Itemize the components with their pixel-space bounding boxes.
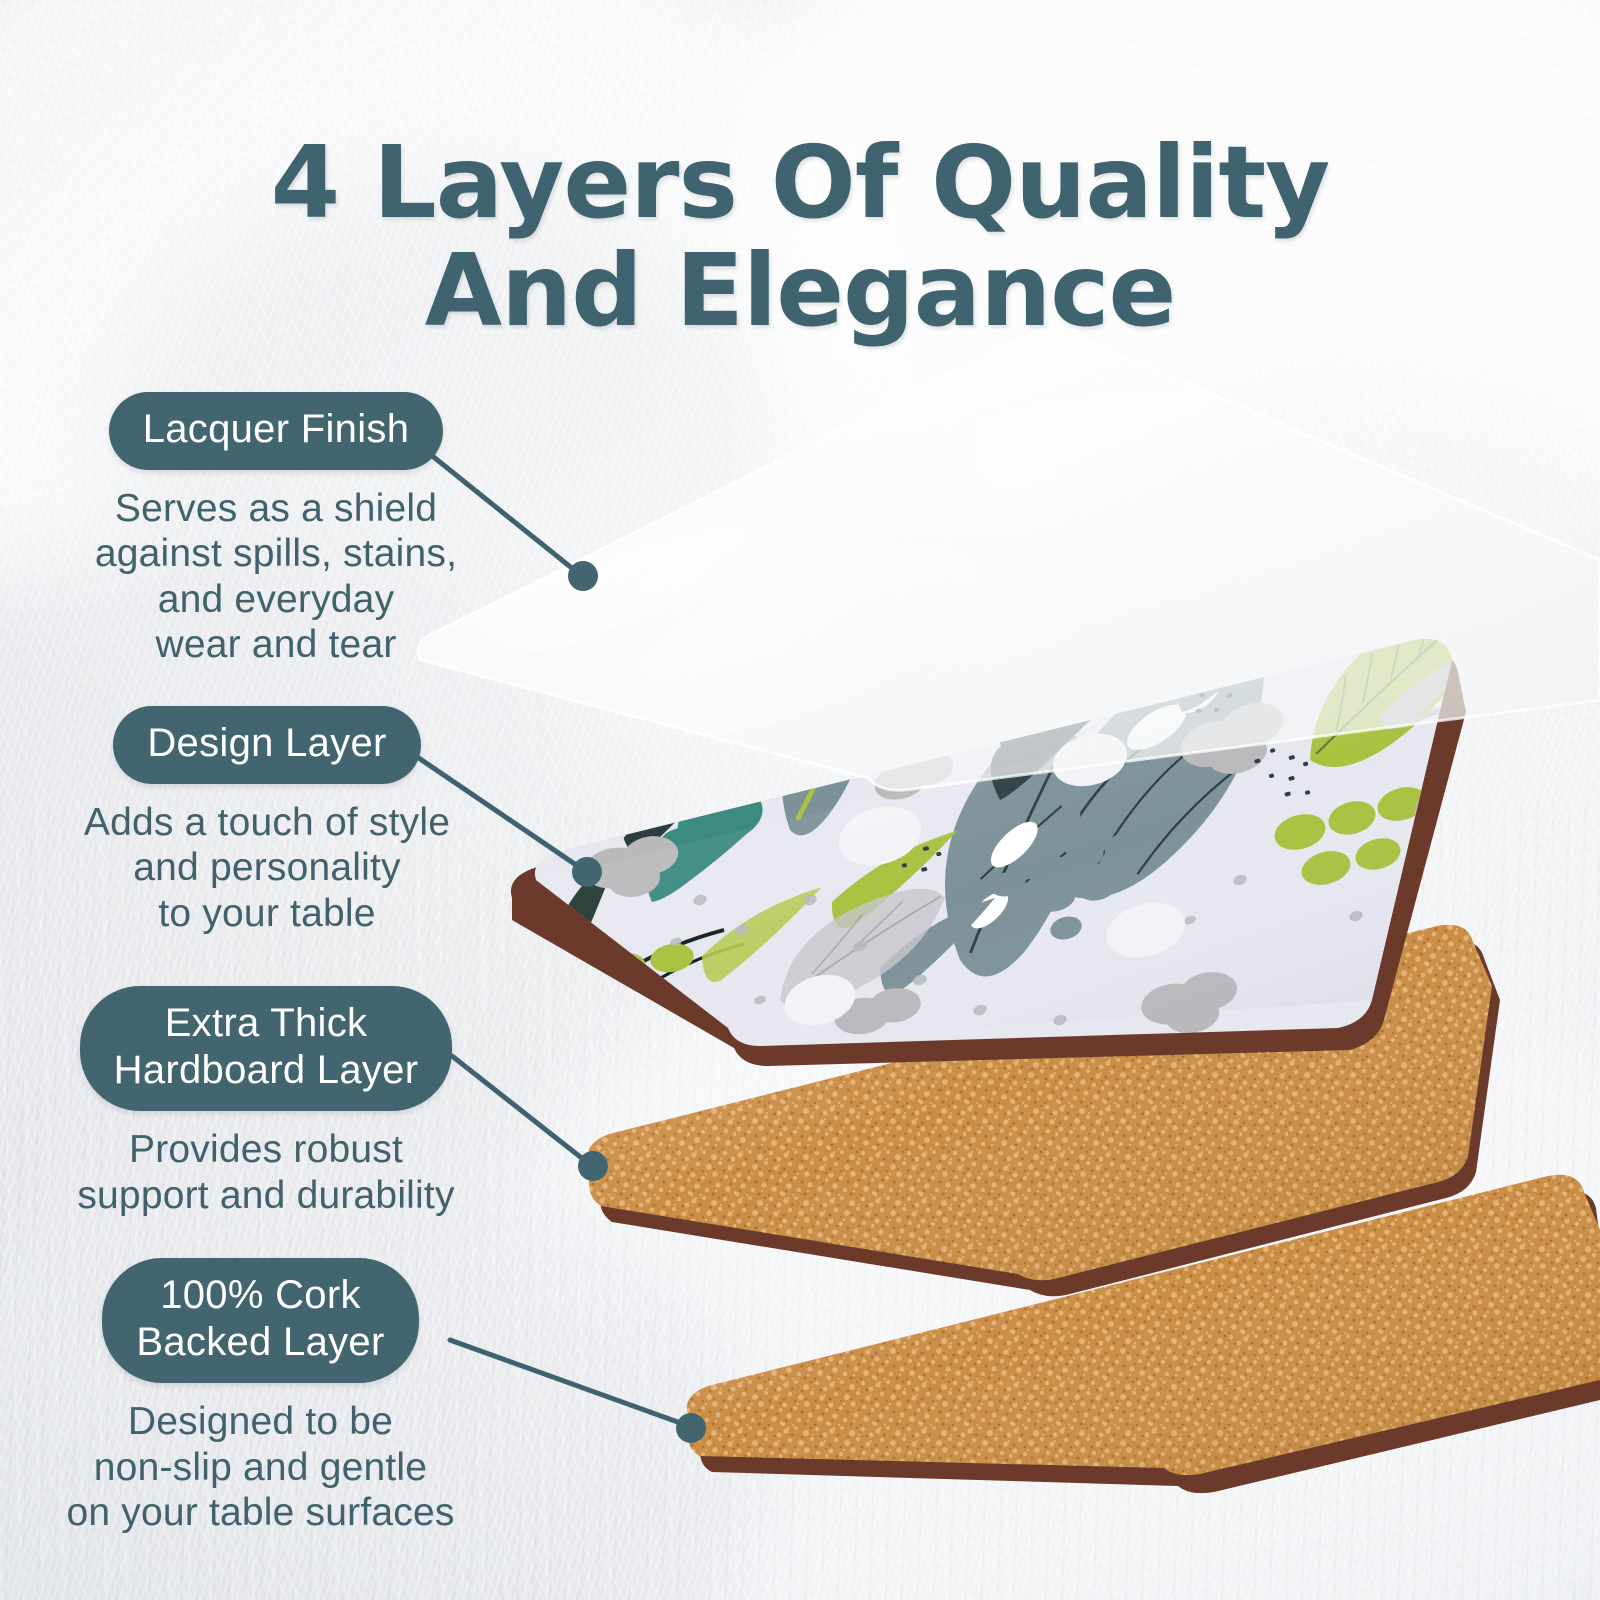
layer-callout-hardboard: Extra Thick Hardboard Layer Provides rob… [56,986,476,1218]
page-title: 4 Layers Of Quality And Elegance [0,129,1600,345]
connector-dot-cork [676,1413,706,1443]
page-title-line-1: 4 Layers Of Quality [271,124,1330,241]
layer-label-lacquer[interactable]: Lacquer Finish [109,392,444,470]
layer-callout-lacquer: Lacquer Finish Serves as a shield agains… [86,392,466,667]
layer-label-design[interactable]: Design Layer [113,706,420,784]
layer-callout-cork: 100% Cork Backed Layer Designed to be no… [48,1258,473,1535]
connector-line-cork [450,1340,686,1425]
layer-description-cork: Designed to be non-slip and gentle on yo… [48,1399,473,1535]
layer-description-hardboard: Provides robust support and durability [56,1127,476,1217]
layer-description-lacquer: Serves as a shield against spills, stain… [86,486,466,667]
connector-dot-design [572,857,602,887]
layer-callout-design: Design Layer Adds a touch of style and p… [72,706,462,936]
layer-description-design: Adds a touch of style and personality to… [72,800,462,936]
layer-label-hardboard[interactable]: Extra Thick Hardboard Layer [80,986,453,1111]
layer-label-cork[interactable]: 100% Cork Backed Layer [102,1258,418,1383]
page-title-line-2: And Elegance [0,237,1600,345]
connector-dot-lacquer [568,561,598,591]
connector-dot-hardboard [578,1151,608,1181]
layer-lacquer-finish [418,326,1600,790]
